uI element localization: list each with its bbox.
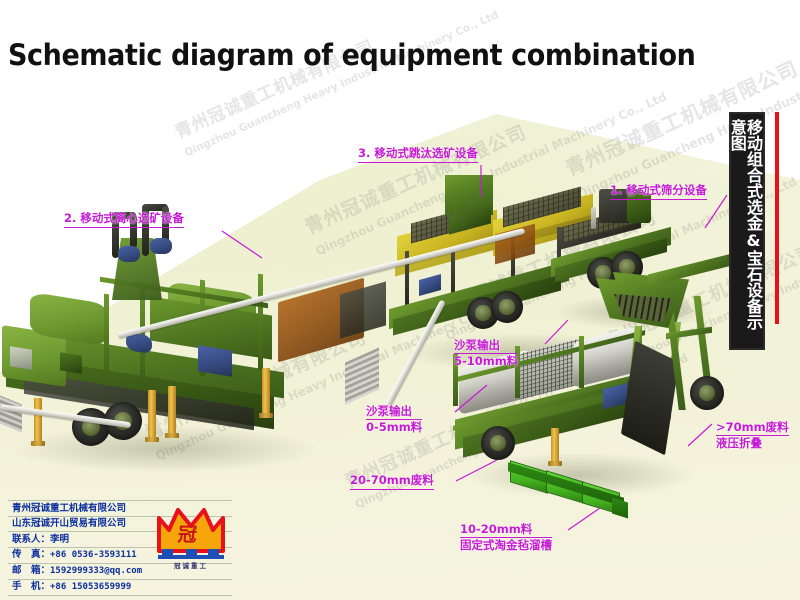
hydraulic-jack-leg: [262, 368, 270, 414]
control-panel: [10, 346, 32, 369]
frame-upright: [104, 294, 109, 387]
pump-motor: [118, 246, 140, 262]
jig-pump-unit: [419, 274, 441, 296]
company-logo: 冠 冠诚重工: [152, 506, 230, 572]
vertical-banner-text: 移动组合式选金&宝石设备示意图: [733, 119, 761, 343]
label-3-jig: 3. 移动式跳汰选矿设备: [358, 146, 478, 163]
contact-fax-value: +86 0536-3593111: [50, 550, 137, 560]
machine-centrifugal-concentrator: [0, 250, 330, 480]
flow-label-pump-5-10: 沙泵输出 5-10mm料: [454, 338, 518, 368]
hydraulic-jack-leg: [34, 398, 42, 442]
vertical-banner: 移动组合式选金&宝石设备示意图: [729, 112, 765, 350]
flow-label-pump-0-5: 沙泵输出 0-5mm料: [366, 404, 422, 434]
contact-mobile-key: 手 机：: [12, 582, 50, 592]
trailer-tire: [481, 426, 515, 460]
contact-email-key: 邮 箱：: [12, 566, 50, 576]
logo-subtext: 冠诚重工: [156, 560, 226, 570]
contact-mobile-value: +86 15053659999: [50, 582, 131, 592]
banner-red-rule: [775, 112, 779, 324]
flow-label-waste-over-70: >70mm废料 液压折叠: [716, 420, 789, 450]
diagram-canvas: 青州冠诚重工机械有限公司Qingzhou Guancheng Heavy Ind…: [0, 0, 800, 600]
access-stairs: [0, 396, 22, 433]
hydraulic-jack-leg: [148, 390, 156, 438]
pump-motor: [150, 238, 172, 254]
sluice-tail-wall: [612, 498, 628, 519]
flow-label-sluice-10-20: 10-20mm料 固定式淘金毡溜槽: [460, 522, 552, 552]
hydraulic-tank: [198, 345, 232, 376]
drum-cage-post: [579, 336, 584, 388]
contact-person-key: 联系人：: [12, 535, 50, 545]
label-2-centrifugal: 2. 移动式离心选矿设备: [64, 211, 184, 228]
hydraulic-jack-leg: [551, 428, 559, 462]
contact-mobile: 手 机：+86 15053659999: [8, 579, 232, 596]
logo-character: 冠: [177, 520, 199, 547]
contact-email-value: 1592999333@qq.com: [50, 566, 142, 576]
contact-person-value: 李明: [50, 535, 69, 545]
flow-label-waste-20-70: 20-70mm废料: [350, 473, 434, 490]
page-title: Schematic diagram of equipment combinati…: [8, 38, 695, 72]
contact-fax-key: 传 真：: [12, 550, 50, 560]
logo-base-bar: [158, 555, 224, 559]
gearbox: [60, 352, 82, 373]
exhaust-stack: [591, 207, 596, 229]
label-1-screening: 1. 移动式筛分设备: [610, 183, 707, 200]
hydraulic-jack-leg: [168, 386, 176, 434]
frame-upright: [258, 274, 263, 371]
trailer-tire: [491, 291, 523, 323]
